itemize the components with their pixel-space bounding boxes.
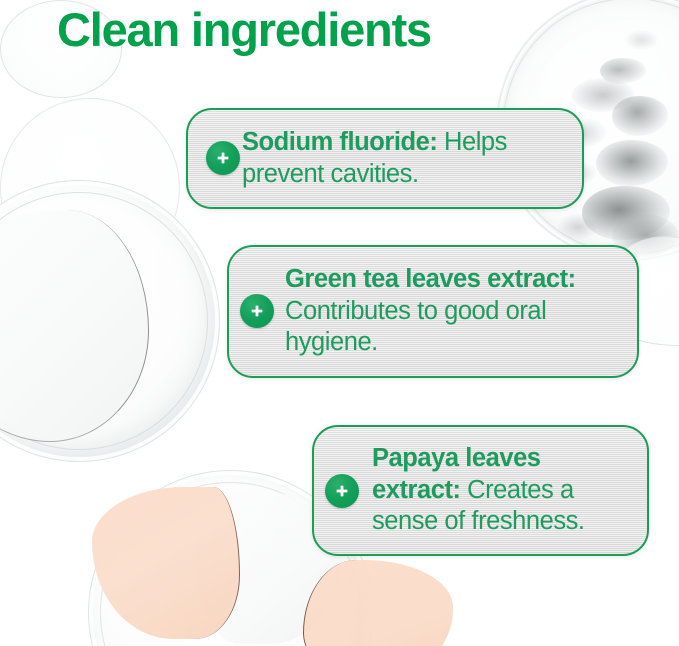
page-title: Clean ingredients (57, 2, 431, 57)
petri-dish-arc-bottom-right (0, 98, 180, 278)
ingredient-card-text: Green tea leaves extract: Contributes to… (229, 264, 637, 358)
powder-speckle (612, 96, 668, 136)
powder-speckle (600, 58, 646, 84)
powder-speckle (558, 214, 598, 240)
powder-speckle (582, 186, 670, 240)
powder-speckle (624, 30, 658, 50)
plus-circle-icon (206, 141, 240, 175)
ingredient-card-green-tea-leaves-extract[interactable]: Green tea leaves extract: Contributes to… (227, 245, 639, 378)
ingredient-card-papaya-leaves-extract[interactable]: Papaya leaves extract: Creates a sense o… (312, 425, 649, 556)
ingredient-card-text: Papaya leaves extract: Creates a sense o… (314, 443, 647, 537)
petri-dish-clear-gel (0, 180, 220, 462)
ingredients-infographic: Clean ingredients Sodium fluoride: Helps… (0, 0, 679, 646)
ingredient-card-text: Sodium fluoride: Helps prevent cavities. (188, 127, 582, 190)
peach-gel-blob-left (92, 487, 240, 639)
plus-circle-icon (240, 294, 274, 328)
petri-dish-clear-rim (0, 192, 208, 450)
peach-gel-blob-right (303, 560, 453, 646)
ingredient-card-sodium-fluoride[interactable]: Sodium fluoride: Helps prevent cavities. (186, 108, 584, 209)
powder-speckle (572, 78, 634, 112)
ingredient-name: Green tea leaves extract: (285, 265, 576, 293)
clear-gel-blob (0, 210, 149, 442)
plus-circle-icon (325, 474, 359, 508)
ingredient-description: Contributes to good oral hygiene. (285, 297, 546, 356)
powder-speckle (596, 140, 668, 186)
ingredient-name: Sodium fluoride: (242, 128, 437, 156)
